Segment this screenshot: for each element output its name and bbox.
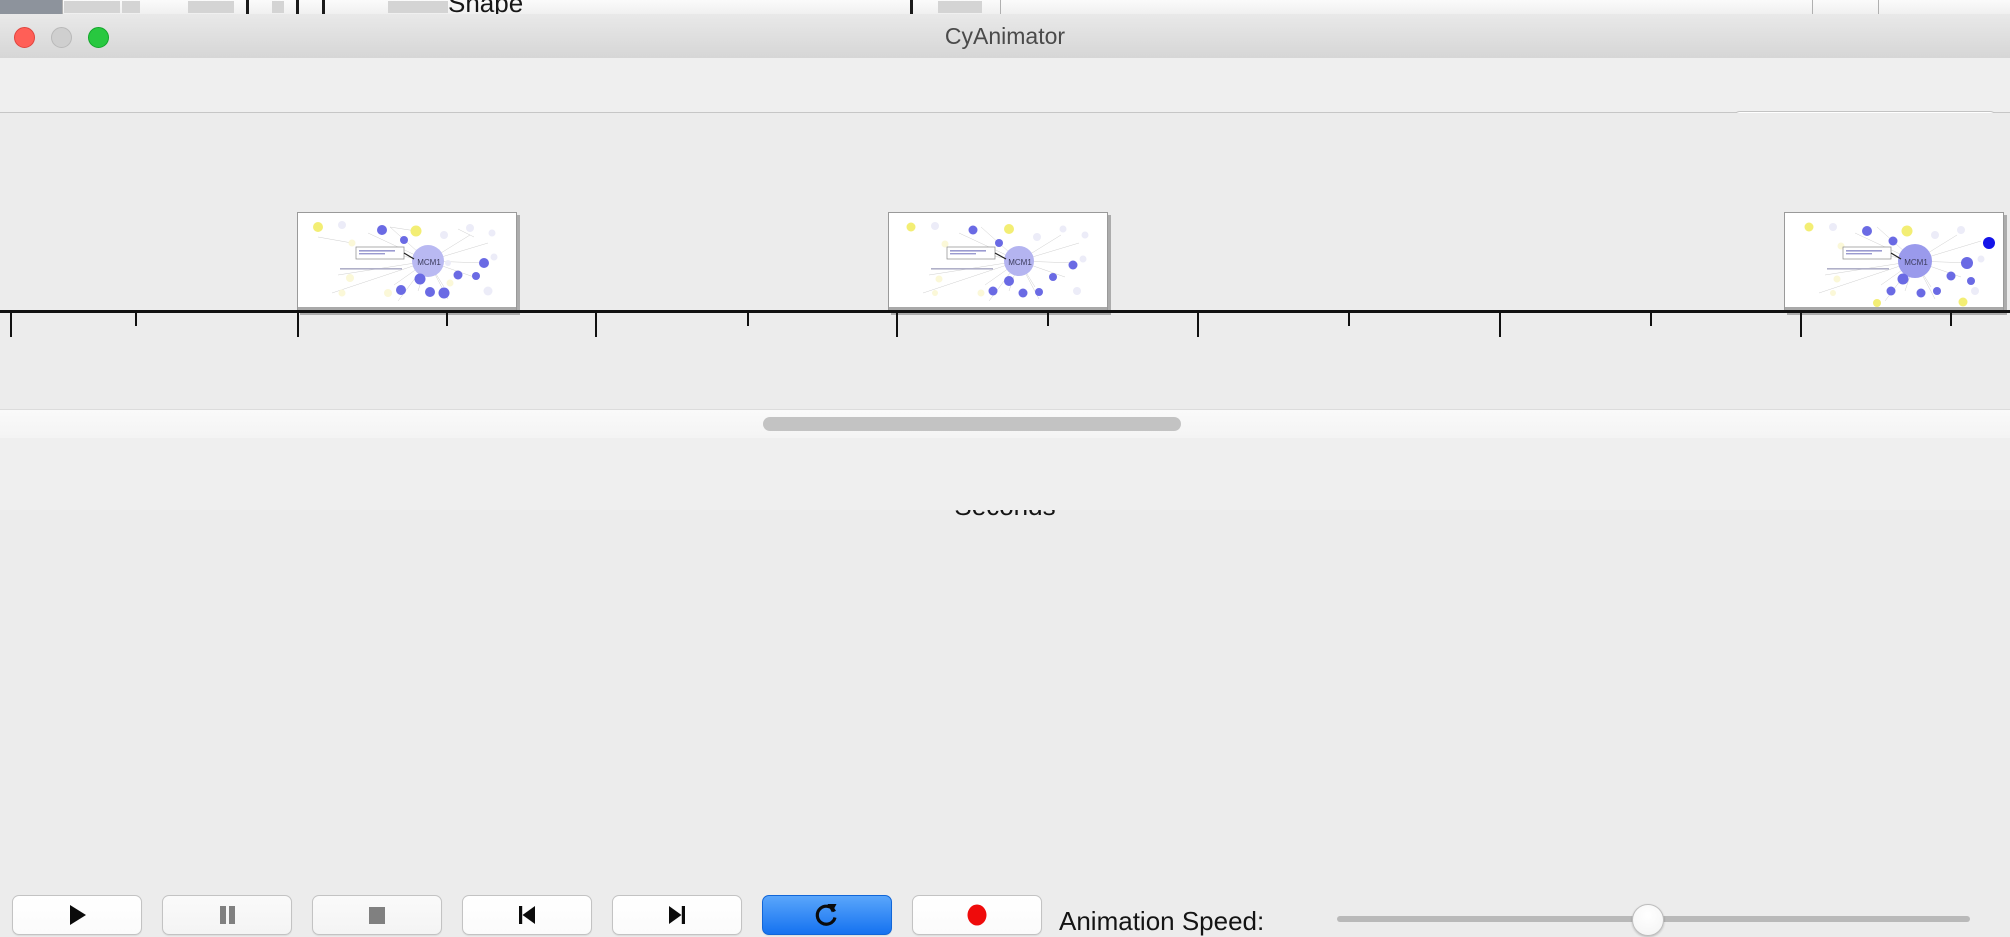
window-title: CyAnimator — [0, 14, 2010, 58]
ruler-tick-major — [297, 313, 299, 337]
timeline-track[interactable]: MCM1 — [0, 113, 2010, 409]
animation-speed-slider-thumb[interactable] — [1632, 904, 1664, 936]
background-window-gray-f — [938, 1, 982, 13]
playback-control-bar: Animation Speed: — [0, 438, 2010, 510]
timeline-scrollbar[interactable] — [0, 409, 2010, 439]
background-window-gray-b — [122, 1, 140, 13]
timeline-frame-2[interactable]: MCM1 — [888, 212, 1108, 312]
toolbar: ✚ Clear All Frames — [0, 58, 2010, 113]
ruler-tick-major — [10, 313, 12, 337]
background-window-divider-d — [1878, 0, 1879, 14]
stop-button[interactable] — [312, 895, 442, 935]
background-window-gray-c — [188, 1, 234, 13]
svg-text:MCM1: MCM1 — [417, 258, 441, 267]
background-window-tick-b — [296, 0, 299, 14]
ruler-tick-major — [1800, 313, 1802, 337]
play-button[interactable] — [12, 895, 142, 935]
title-bar: CyAnimator — [0, 14, 2010, 59]
skip-end-button[interactable] — [612, 895, 742, 935]
stop-icon — [364, 902, 390, 928]
ruler-tick-minor — [747, 313, 749, 326]
timeline-ruler — [0, 310, 2010, 313]
skip-end-icon — [664, 902, 690, 928]
skip-start-icon — [514, 902, 540, 928]
timeline-frame-3[interactable]: MCM1 — [1784, 212, 2004, 312]
network-thumbnail: MCM1 — [889, 213, 1107, 311]
animation-speed-label: Animation Speed: — [1059, 906, 1264, 937]
play-icon — [64, 902, 90, 928]
network-thumbnail: MCM1 — [1785, 213, 2003, 311]
ruler-tick-major — [896, 313, 898, 337]
background-window-gray-a — [64, 1, 120, 13]
ruler-tick-minor — [446, 313, 448, 326]
svg-text:MCM1: MCM1 — [1008, 258, 1032, 267]
background-window-gray-e — [388, 1, 448, 13]
timeline-panel[interactable]: MCM1 — [0, 113, 2010, 409]
background-window-dark-segment — [0, 0, 62, 14]
ruler-tick-minor — [1047, 313, 1049, 326]
background-window-divider-c — [1812, 0, 1813, 14]
background-window-label: Shape — [448, 0, 523, 15]
background-window-tick-d — [910, 0, 913, 14]
ruler-tick-major — [1197, 313, 1199, 337]
skip-start-button[interactable] — [462, 895, 592, 935]
ruler-tick-minor — [1348, 313, 1350, 326]
svg-text:MCM1: MCM1 — [1904, 258, 1928, 267]
ruler-tick-major — [595, 313, 597, 337]
ruler-tick-minor — [1650, 313, 1652, 326]
background-window-tick-a — [246, 0, 249, 14]
pause-button[interactable] — [162, 895, 292, 935]
background-window-divider-b — [1000, 0, 1001, 14]
record-button[interactable] — [912, 895, 1042, 935]
pause-icon — [214, 902, 240, 928]
cyanimator-window: Shape CyAnimator ✚ Clear All Frames — [0, 0, 2010, 510]
background-window-tick-c — [322, 0, 325, 14]
ruler-tick-minor — [135, 313, 137, 326]
record-icon — [963, 901, 991, 929]
loop-icon — [813, 901, 841, 929]
background-window-strip: Shape — [0, 0, 2010, 15]
timeline-scrollbar-thumb[interactable] — [763, 417, 1181, 431]
loop-button[interactable] — [762, 895, 892, 935]
ruler-tick-major — [1499, 313, 1501, 337]
ruler-tick-minor — [1950, 313, 1952, 326]
background-window-gray-d — [272, 1, 284, 13]
background-window-divider-a — [62, 0, 63, 14]
timeline-frame-1[interactable]: MCM1 — [297, 212, 517, 312]
network-thumbnail: MCM1 — [298, 213, 516, 311]
